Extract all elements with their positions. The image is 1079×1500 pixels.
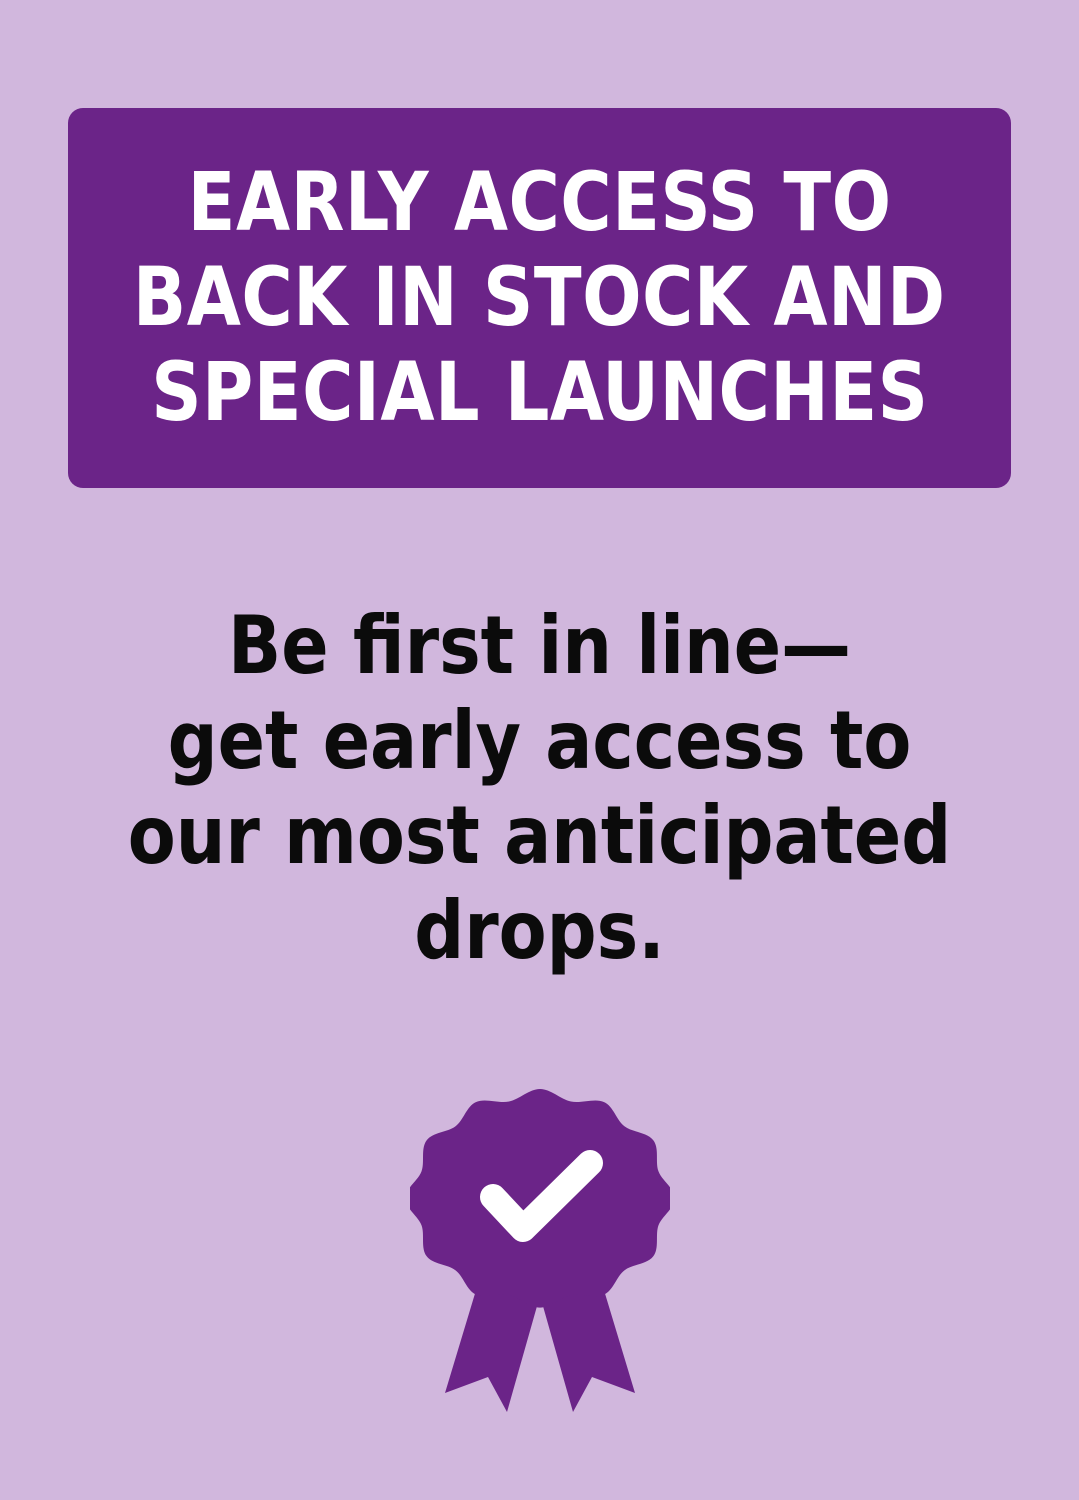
promo-card: EARLY ACCESS TO BACK IN STOCK AND SPECIA… bbox=[0, 0, 1079, 1500]
award-rosette-check-icon bbox=[410, 1085, 670, 1425]
headline-line-1: EARLY ACCESS TO bbox=[188, 156, 892, 251]
headline-banner: EARLY ACCESS TO BACK IN STOCK AND SPECIA… bbox=[68, 108, 1011, 488]
subheading-line-4: drops. bbox=[16, 883, 1063, 978]
subheading-line-1: Be first in line— bbox=[16, 598, 1063, 693]
headline-line-2: BACK IN STOCK AND bbox=[133, 251, 946, 346]
award-rosette-check-svg bbox=[410, 1085, 670, 1425]
subheading-text: Be first in line— get early access to ou… bbox=[0, 598, 1079, 978]
headline-line-3: SPECIAL LAUNCHES bbox=[151, 346, 928, 441]
subheading-line-2: get early access to bbox=[16, 693, 1063, 788]
subheading-line-3: our most anticipated bbox=[16, 788, 1063, 883]
